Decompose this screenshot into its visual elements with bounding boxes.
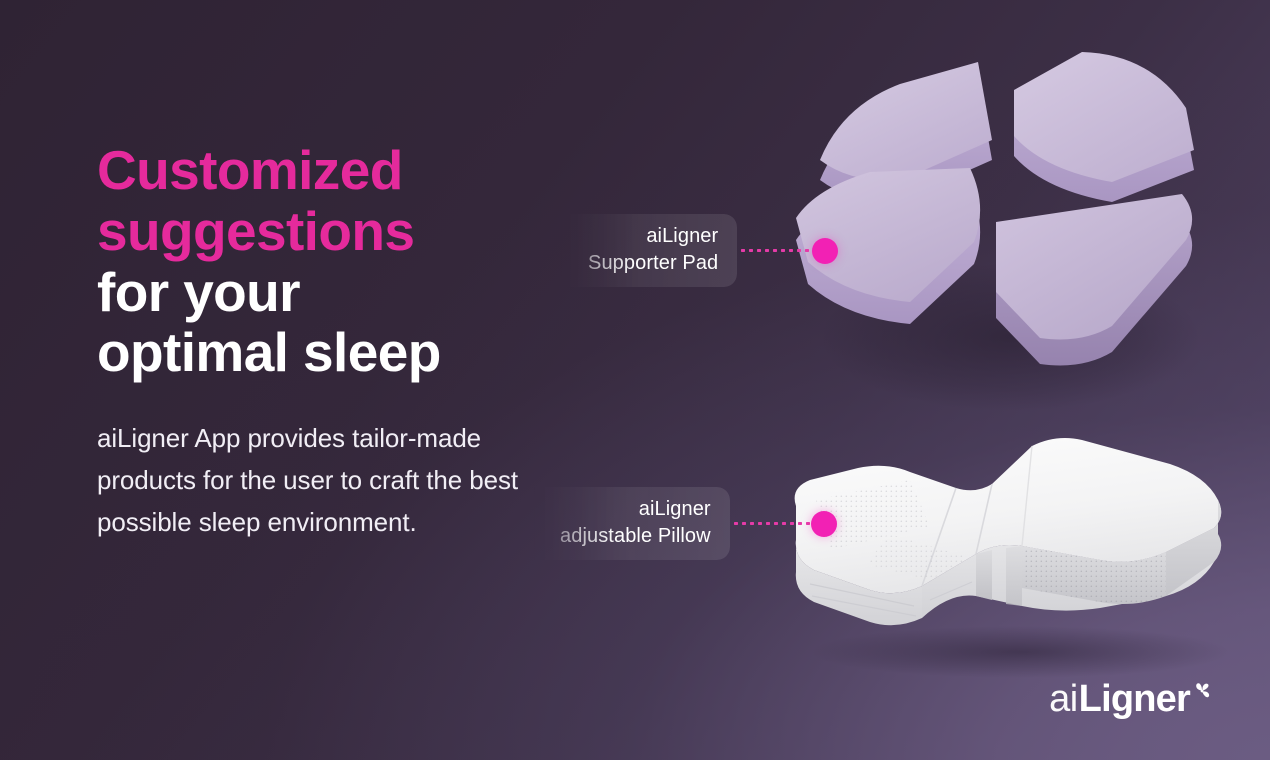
callout-label-supporter-pad: aiLigner Supporter Pad (548, 214, 737, 287)
supporter-pad-image (782, 52, 1218, 412)
page-title: Customized suggestions for your optimal … (97, 140, 567, 383)
callout-adjustable-pillow[interactable]: aiLigner adjustable Pillow (520, 487, 837, 560)
adjustable-pillow-image (770, 430, 1250, 680)
hotspot-dot-icon[interactable] (811, 511, 837, 537)
callout-label-adjustable-pillow: aiLigner adjustable Pillow (520, 487, 730, 560)
copy-block: Customized suggestions for your optimal … (97, 140, 567, 543)
promo-banner: Customized suggestions for your optimal … (0, 0, 1270, 760)
callout-line-1: aiLigner (588, 223, 718, 250)
hotspot-dot-icon[interactable] (812, 238, 838, 264)
callout-line-1: aiLigner (560, 496, 711, 523)
headline-line-4: optimal sleep (97, 322, 567, 383)
headline-line-2: suggestions (97, 201, 567, 262)
logo-text-light: ai (1049, 680, 1078, 718)
brand-logo[interactable]: ai Ligner (1049, 680, 1212, 718)
headline-line-1: Customized (97, 140, 567, 201)
subcopy-text: aiLigner App provides tailor-made produc… (97, 417, 537, 543)
callout-line-2: adjustable Pillow (560, 523, 711, 550)
callout-supporter-pad[interactable]: aiLigner Supporter Pad (548, 214, 838, 287)
dotted-line-icon (739, 249, 817, 252)
callout-line-2: Supporter Pad (588, 250, 718, 277)
dotted-line-icon (732, 522, 816, 525)
headline-line-3: for your (97, 262, 567, 323)
pinwheel-icon (1192, 681, 1212, 701)
logo-text-bold: Ligner (1079, 680, 1190, 718)
